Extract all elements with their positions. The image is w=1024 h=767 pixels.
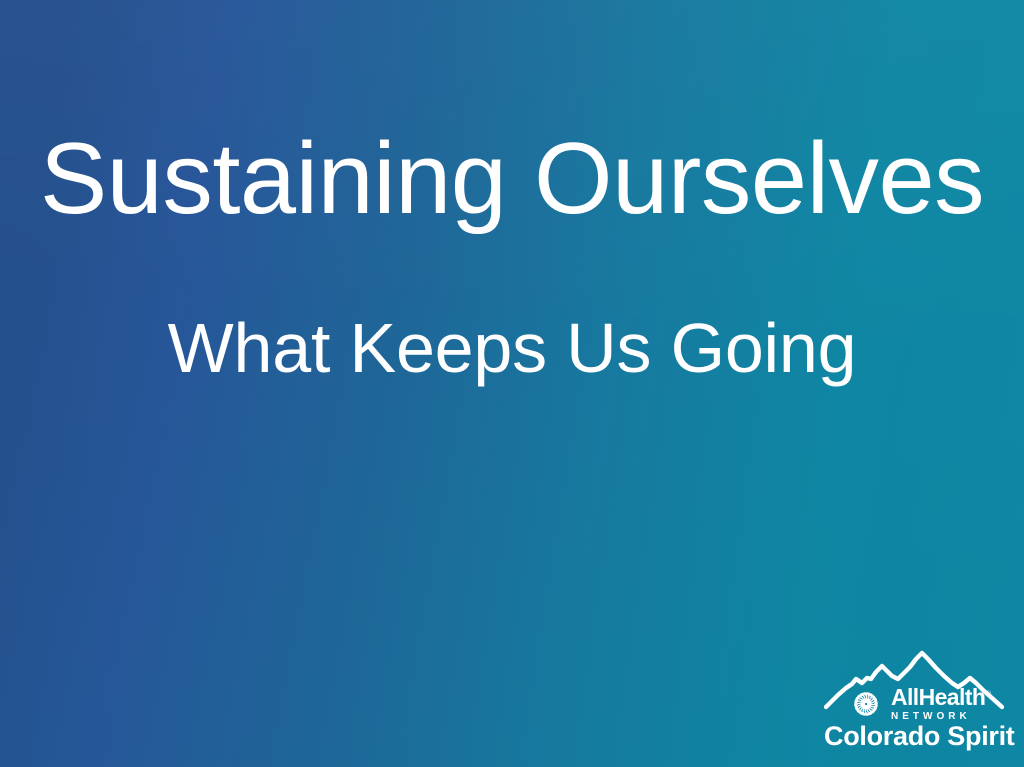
logo-lockup: AllHealth® NETWORK xyxy=(846,683,1004,725)
logo-program-label: Colorado Spirit xyxy=(824,723,1004,750)
page-title: Sustaining Ourselves xyxy=(0,126,1024,233)
logo-allhealth-text: AllHealth® xyxy=(891,686,991,709)
logo-allhealth-label: AllHealth xyxy=(891,684,985,710)
presentation-slide: Sustaining Ourselves What Keeps Us Going xyxy=(0,0,1024,767)
page-subtitle: What Keeps Us Going xyxy=(0,310,1024,387)
allhealth-colorado-spirit-logo: AllHealth® NETWORK Colorado Spirit xyxy=(824,650,1004,762)
subtitle-block: What Keeps Us Going xyxy=(0,310,1024,387)
logo-wordmark: AllHealth® NETWORK xyxy=(891,686,991,722)
sunburst-icon xyxy=(846,684,886,724)
registered-trademark-icon: ® xyxy=(985,689,990,698)
title-block: Sustaining Ourselves xyxy=(0,126,1024,233)
